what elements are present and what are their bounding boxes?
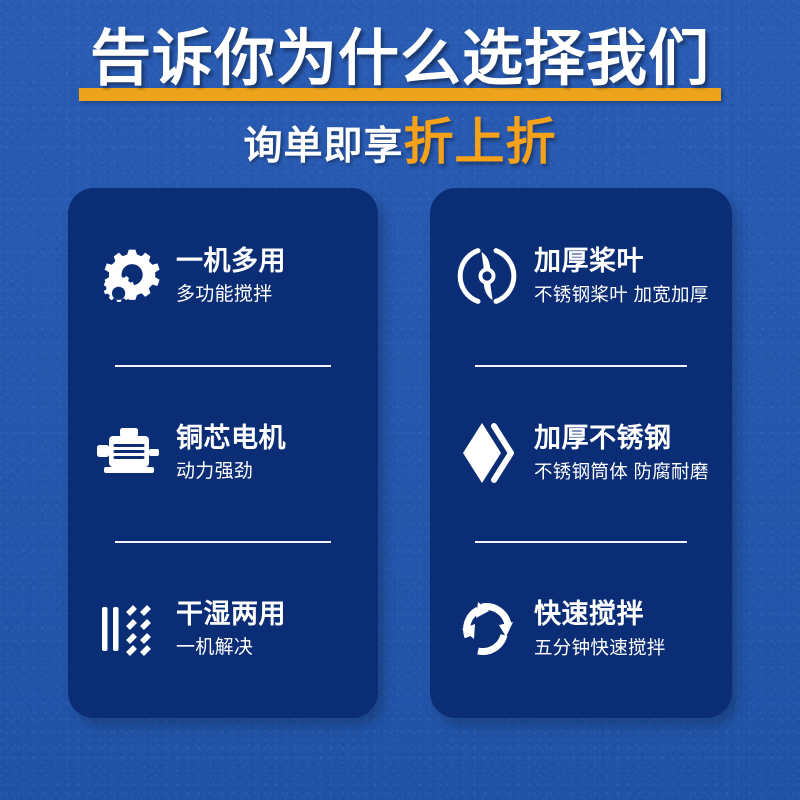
feature-item-one-machine-multi-use[interactable]: 一机多用 多功能搅拌 bbox=[68, 188, 378, 365]
wet-dry-icon bbox=[90, 588, 168, 670]
feature-subtitle: 动力强劲 bbox=[176, 459, 378, 485]
paddle-blade-icon bbox=[448, 235, 526, 317]
feature-item-thick-paddle[interactable]: 加厚桨叶 不锈钢桨叶 加宽加厚 bbox=[430, 188, 732, 365]
banner-header: 告诉你为什么选择我们 询单即享折上折 bbox=[0, 0, 800, 190]
circular-arrows-icon bbox=[448, 588, 526, 670]
feature-text: 铜芯电机 动力强劲 bbox=[168, 421, 378, 485]
subtitle-plain-text: 询单即享 bbox=[243, 125, 403, 168]
feature-title: 铜芯电机 bbox=[176, 421, 378, 455]
feature-card-left: 一机多用 多功能搅拌 bbox=[68, 188, 378, 718]
feature-item-fast-mixing[interactable]: 快速搅拌 五分钟快速搅拌 bbox=[430, 541, 732, 718]
feature-subtitle: 不锈钢筒体 防腐耐磨 bbox=[534, 459, 732, 485]
gears-icon bbox=[90, 235, 168, 317]
feature-text: 一机多用 多功能搅拌 bbox=[168, 244, 378, 308]
feature-title: 干湿两用 bbox=[176, 597, 378, 631]
feature-item-thick-stainless-steel[interactable]: 加厚不锈钢 不锈钢筒体 防腐耐磨 bbox=[430, 365, 732, 542]
thick-steel-diamond-icon bbox=[448, 412, 526, 494]
feature-text: 加厚不锈钢 不锈钢筒体 防腐耐磨 bbox=[526, 421, 732, 485]
title-block: 告诉你为什么选择我们 bbox=[76, 23, 724, 101]
feature-title: 快速搅拌 bbox=[534, 597, 732, 631]
feature-item-copper-motor[interactable]: 铜芯电机 动力强劲 bbox=[68, 365, 378, 542]
promo-banner: 告诉你为什么选择我们 询单即享折上折 一机多 bbox=[0, 0, 800, 800]
feature-subtitle: 一机解决 bbox=[176, 635, 378, 661]
subtitle-accent-text: 折上折 bbox=[404, 114, 557, 170]
page-title: 告诉你为什么选择我们 bbox=[76, 23, 724, 93]
feature-subtitle: 不锈钢桨叶 加宽加厚 bbox=[534, 282, 732, 308]
feature-subtitle: 多功能搅拌 bbox=[176, 282, 378, 308]
feature-text: 快速搅拌 五分钟快速搅拌 bbox=[526, 597, 732, 661]
feature-title: 加厚桨叶 bbox=[534, 244, 732, 278]
feature-text: 干湿两用 一机解决 bbox=[168, 597, 378, 661]
feature-title: 加厚不锈钢 bbox=[534, 421, 732, 455]
subtitle: 询单即享折上折 bbox=[0, 113, 800, 184]
feature-text: 加厚桨叶 不锈钢桨叶 加宽加厚 bbox=[526, 244, 732, 308]
feature-item-wet-dry[interactable]: 干湿两用 一机解决 bbox=[68, 541, 378, 718]
feature-card-right: 加厚桨叶 不锈钢桨叶 加宽加厚 加厚不锈钢 不锈钢筒体 防腐耐磨 bbox=[430, 188, 732, 718]
electric-motor-icon bbox=[90, 412, 168, 494]
feature-title: 一机多用 bbox=[176, 244, 378, 278]
feature-subtitle: 五分钟快速搅拌 bbox=[534, 635, 732, 661]
